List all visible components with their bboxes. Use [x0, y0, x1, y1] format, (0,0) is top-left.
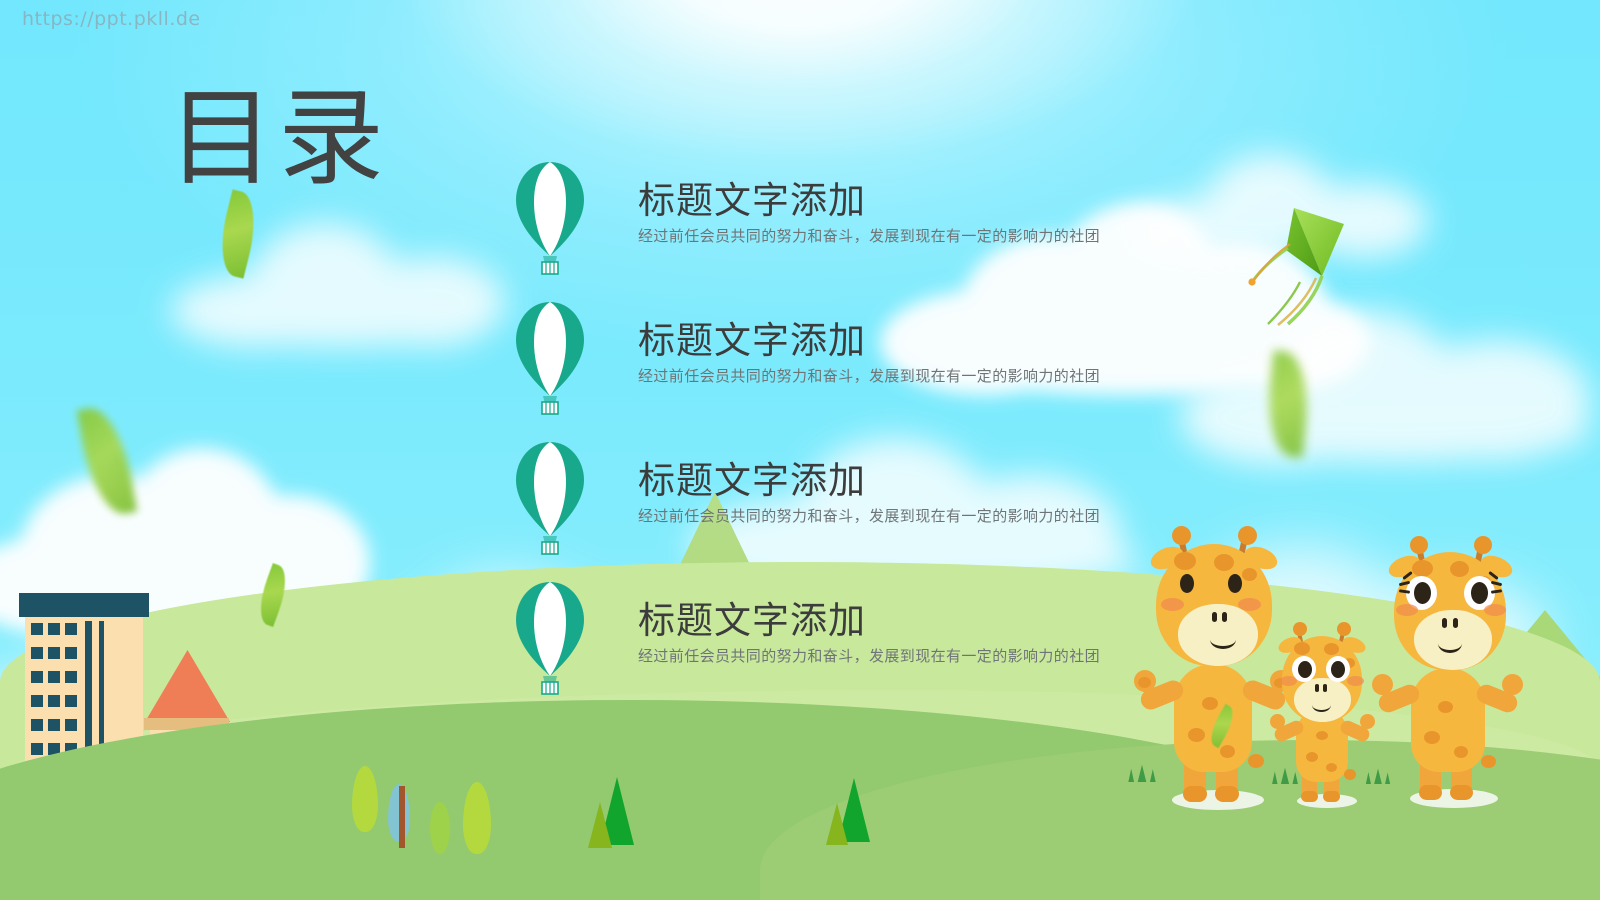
toc-item-title: 标题文字添加 — [638, 458, 1108, 503]
hot-air-balloon-icon — [512, 300, 588, 418]
toc-item[interactable]: 标题文字添加 经过前任会员共同的努力和奋斗，发展到现在有一定的影响力的社团 — [512, 300, 1112, 440]
kite-icon — [1212, 186, 1362, 326]
building-roof — [145, 650, 230, 722]
giraffe-adult-icon — [1368, 530, 1540, 808]
toc-item-title: 标题文字添加 — [638, 598, 1108, 643]
toc-item-subtitle: 经过前任会员共同的努力和奋斗，发展到现在有一定的影响力的社团 — [638, 365, 1108, 386]
toc-item-subtitle: 经过前任会员共同的努力和奋斗，发展到现在有一定的影响力的社团 — [638, 505, 1108, 526]
hot-air-balloon-svg — [512, 440, 588, 558]
toc-item-text: 标题文字添加 经过前任会员共同的努力和奋斗，发展到现在有一定的影响力的社团 — [638, 458, 1108, 526]
toc-item-title: 标题文字添加 — [638, 318, 1108, 363]
hot-air-balloon-icon — [512, 160, 588, 278]
kite-svg — [1212, 186, 1362, 326]
toc-item-text: 标题文字添加 经过前任会员共同的努力和奋斗，发展到现在有一定的影响力的社团 — [638, 178, 1108, 246]
round-tree-illustration — [430, 802, 450, 854]
toc-item-text: 标题文字添加 经过前任会员共同的努力和奋斗，发展到现在有一定的影响力的社团 — [638, 598, 1108, 666]
toc-item[interactable]: 标题文字添加 经过前任会员共同的努力和奋斗，发展到现在有一定的影响力的社团 — [512, 160, 1112, 300]
toc-item[interactable]: 标题文字添加 经过前任会员共同的努力和奋斗，发展到现在有一定的影响力的社团 — [512, 580, 1112, 720]
hot-air-balloon-icon — [512, 440, 588, 558]
tree-trunk — [399, 786, 405, 848]
table-of-contents: 标题文字添加 经过前任会员共同的努力和奋斗，发展到现在有一定的影响力的社团 标题… — [512, 160, 1112, 720]
slide-canvas: https://ppt.pkll.de 目录 标题文字添加 经过前任会员共同的努… — [0, 0, 1600, 900]
hot-air-balloon-svg — [512, 300, 588, 418]
cloud-illustration — [170, 215, 510, 345]
toc-item-title: 标题文字添加 — [638, 178, 1108, 223]
toc-item[interactable]: 标题文字添加 经过前任会员共同的努力和奋斗，发展到现在有一定的影响力的社团 — [512, 440, 1112, 580]
toc-item-text: 标题文字添加 经过前任会员共同的努力和奋斗，发展到现在有一定的影响力的社团 — [638, 318, 1108, 386]
toc-item-subtitle: 经过前任会员共同的努力和奋斗，发展到现在有一定的影响力的社团 — [638, 225, 1108, 246]
hot-air-balloon-svg — [512, 160, 588, 278]
hot-air-balloon-svg — [512, 580, 588, 698]
pine-tree-illustration — [588, 794, 612, 848]
hot-air-balloon-icon — [512, 580, 588, 698]
watermark-url: https://ppt.pkll.de — [22, 8, 201, 30]
toc-item-subtitle: 经过前任会员共同的努力和奋斗，发展到现在有一定的影响力的社团 — [638, 645, 1108, 666]
page-title: 目录 — [168, 83, 388, 194]
pine-tree-illustration — [826, 795, 848, 845]
